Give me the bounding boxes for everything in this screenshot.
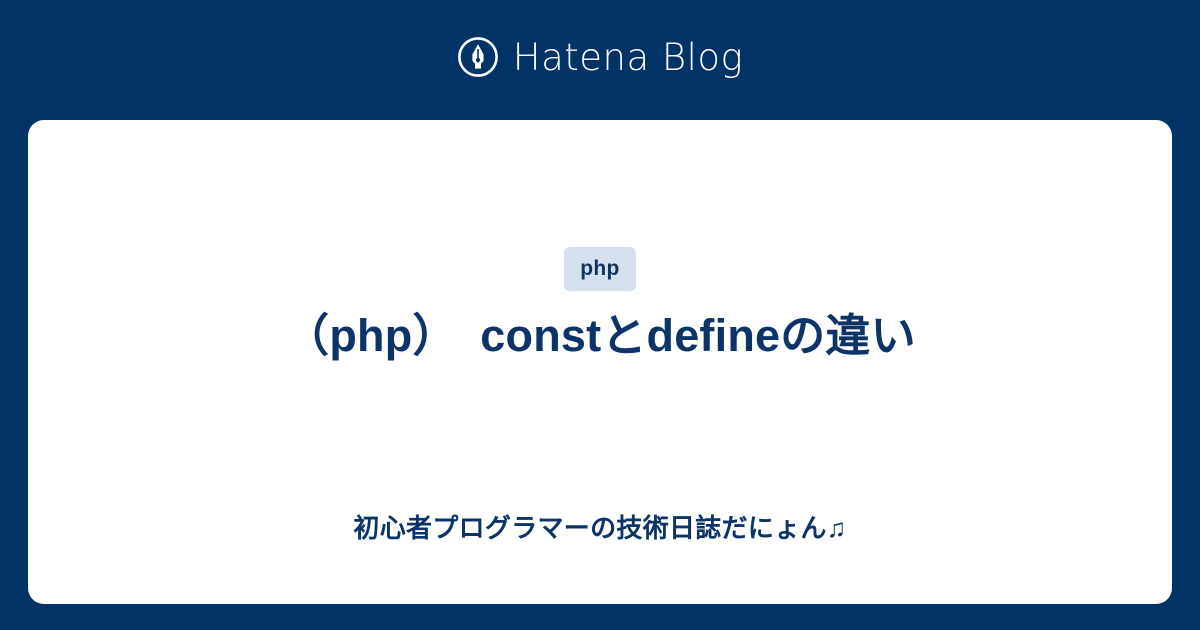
page-header: Hatena Blog	[0, 0, 1200, 120]
fountain-pen-nib-icon	[457, 36, 499, 78]
category-badge[interactable]: php	[564, 247, 635, 291]
entry-card-main: php （php） constとdefineの違い	[28, 120, 1172, 490]
entry-card: php （php） constとdefineの違い 初心者プログラマーの技術日誌…	[28, 120, 1172, 604]
hatena-blog-logo	[457, 36, 499, 78]
service-name-label: Hatena Blog	[513, 39, 744, 76]
blog-title: 初心者プログラマーの技術日誌だにょん♫	[28, 512, 1172, 546]
entry-title: （php） constとdefineの違い	[284, 309, 916, 364]
